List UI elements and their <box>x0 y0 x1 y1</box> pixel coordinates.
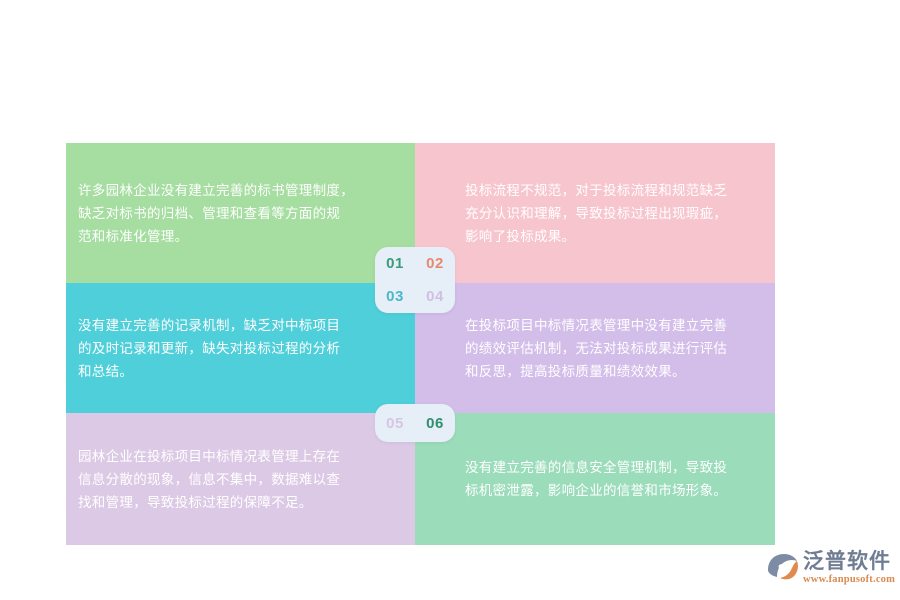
number-badge-top: 01 02 03 04 <box>375 247 455 313</box>
issue-panel-01-text: 许多园林企业没有建立完善的标书管理制度， 缺乏对标书的归档、管理和查看等方面的规… <box>78 179 354 248</box>
issue-panel-02: 投标流程不规范，对于投标流程和规范缺乏 充分认识和理解，导致投标过程出现瑕疵， … <box>415 143 775 283</box>
issue-panel-04: 在投标项目中标情况表管理中没有建立完善 的绩效评估机制，无法对投标成果进行评估 … <box>415 283 775 413</box>
issue-panel-02-text: 投标流程不规范，对于投标流程和规范缺乏 充分认识和理解，导致投标过程出现瑕疵， … <box>465 179 727 248</box>
issue-panel-06-text: 没有建立完善的信息安全管理机制，导致投 标机密泄露，影响企业的信誉和市场形象。 <box>465 456 727 502</box>
badge-number-06: 06 <box>415 404 455 442</box>
issue-panel-03-text: 没有建立完善的记录机制，缺乏对中标项目 的及时记录和更新，缺失对投标过程的分析 … <box>78 314 340 383</box>
issue-panel-06: 没有建立完善的信息安全管理机制，导致投 标机密泄露，影响企业的信誉和市场形象。 <box>415 413 775 545</box>
issue-panel-01: 许多园林企业没有建立完善的标书管理制度， 缺乏对标书的归档、管理和查看等方面的规… <box>66 143 415 283</box>
issue-panel-05: 园林企业在投标项目中标情况表管理上存在 信息分散的现象，信息不集中，数据难以查 … <box>66 413 415 545</box>
badge-number-01: 01 <box>375 247 415 280</box>
issue-panel-05-text: 园林企业在投标项目中标情况表管理上存在 信息分散的现象，信息不集中，数据难以查 … <box>78 445 340 514</box>
issues-grid: 许多园林企业没有建立完善的标书管理制度， 缺乏对标书的归档、管理和查看等方面的规… <box>66 143 775 545</box>
brand-logo: 泛普软件 www.fanpusoft.com <box>766 545 894 591</box>
number-badge-bottom: 05 06 <box>375 404 455 442</box>
brand-name: 泛普软件 <box>803 551 895 572</box>
fanpu-logo-icon <box>766 551 800 585</box>
badge-number-03: 03 <box>375 280 415 313</box>
badge-number-05: 05 <box>375 404 415 442</box>
brand-url: www.fanpusoft.com <box>803 575 895 586</box>
issue-panel-04-text: 在投标项目中标情况表管理中没有建立完善 的绩效评估机制，无法对投标成果进行评估 … <box>465 314 727 383</box>
badge-number-04: 04 <box>415 280 455 313</box>
badge-number-02: 02 <box>415 247 455 280</box>
brand-text-block: 泛普软件 www.fanpusoft.com <box>803 551 895 586</box>
issue-panel-03: 没有建立完善的记录机制，缺乏对中标项目 的及时记录和更新，缺失对投标过程的分析 … <box>66 283 415 413</box>
